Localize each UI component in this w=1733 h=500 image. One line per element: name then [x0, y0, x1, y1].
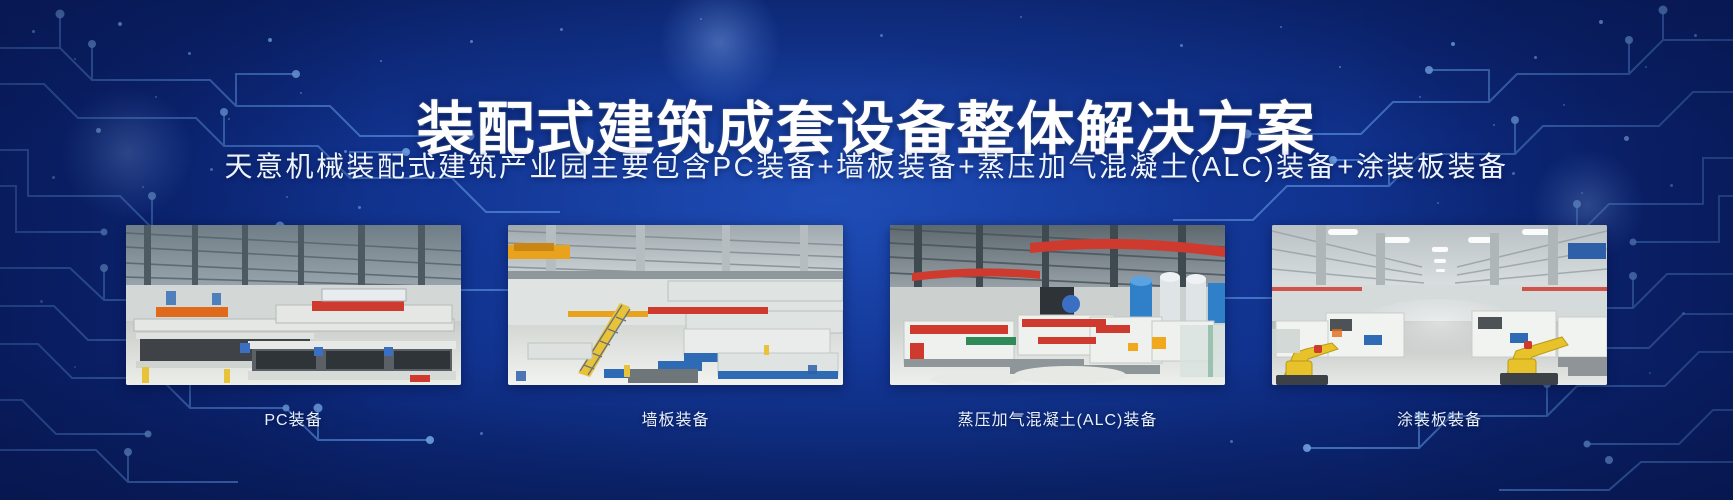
equipment-card-caption: 涂装板装备	[1272, 406, 1607, 430]
factory-pc-line-photo[interactable]	[126, 225, 461, 385]
equipment-card[interactable]: 涂装板装备	[1272, 225, 1607, 430]
hero-banner: 装配式建筑成套设备整体解决方案 天意机械装配式建筑产业园主要包含PC装备+墙板装…	[0, 0, 1733, 500]
equipment-card-caption: 墙板装备	[508, 406, 843, 430]
equipment-card-list: PC装备	[0, 225, 1733, 430]
factory-wallboard-line-photo[interactable]	[508, 225, 843, 385]
equipment-card[interactable]: 蒸压加气混凝土(ALC)装备	[890, 225, 1225, 430]
banner-subheadline: 天意机械装配式建筑产业园主要包含PC装备+墙板装备+蒸压加气混凝土(ALC)装备…	[0, 150, 1733, 184]
banner-content: 装配式建筑成套设备整体解决方案 天意机械装配式建筑产业园主要包含PC装备+墙板装…	[0, 0, 1733, 500]
equipment-card-caption: 蒸压加气混凝土(ALC)装备	[890, 406, 1225, 430]
equipment-card-caption: PC装备	[126, 406, 461, 430]
equipment-card[interactable]: PC装备	[126, 225, 461, 430]
equipment-card[interactable]: 墙板装备	[508, 225, 843, 430]
factory-coating-line-photo[interactable]	[1272, 225, 1607, 385]
factory-alc-line-photo[interactable]	[890, 225, 1225, 385]
